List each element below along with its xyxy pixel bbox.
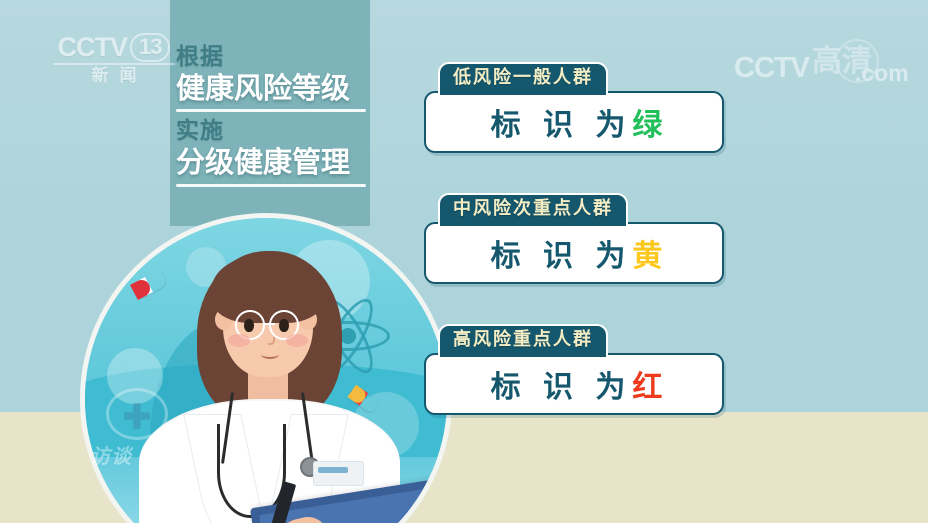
cctv-logo-row: CCTV 13 [46, 33, 182, 62]
cctv-logo-text: CCTV [58, 34, 128, 61]
cctv-logo-underline [53, 63, 175, 65]
doctor-blush-right [286, 334, 308, 347]
risk-card-body: 标 识 为绿 [424, 91, 724, 153]
headline-line-2: 健康风险等级 [176, 71, 372, 109]
headline-rule-2 [176, 184, 366, 187]
doctor-illustration-scene [85, 218, 447, 523]
doctor-blush-left [228, 334, 250, 347]
risk-card-tab-label: 高风险重点人群 [453, 329, 593, 349]
glasses-bridge [264, 323, 275, 326]
headline-line-1: 根据 [176, 42, 372, 71]
risk-card-body-text: 标 识 为黄 [484, 231, 665, 275]
headline-block: 根据 健康风险等级 实施 分级健康管理 [176, 42, 372, 191]
risk-card-prefix: 标 识 为 [491, 109, 633, 142]
doctor-id-badge [313, 461, 364, 486]
risk-card-tab-label: 低风险一般人群 [453, 67, 593, 87]
doctor-eye-left [244, 319, 253, 331]
risk-card-color-word: 红 [632, 371, 664, 404]
risk-card-high: 高风险重点人群 标 识 为红 [424, 324, 724, 415]
broadcast-frame: CCTV 13 新闻 CCTV 高清 .com 根据 健康风险等级 实施 分级健… [0, 0, 928, 523]
doctor-illustration [80, 213, 452, 523]
risk-card-tab: 中风险次重点人群 [438, 193, 628, 228]
watermark-domain-suffix: .com [855, 60, 909, 87]
doctor-hair-front [212, 254, 324, 323]
headline-line-4: 分级健康管理 [176, 145, 372, 183]
risk-card-tab: 低风险一般人群 [438, 62, 608, 97]
headline-rule-1 [176, 109, 366, 112]
risk-card-color-word: 黄 [632, 240, 664, 273]
watermark-brand: CCTV [734, 52, 809, 85]
risk-card-body: 标 识 为黄 [424, 222, 724, 284]
risk-card-body-text: 标 识 为红 [484, 362, 665, 406]
cctv13-logo: CCTV 13 新闻 [46, 33, 182, 95]
risk-card-tab: 高风险重点人群 [438, 324, 608, 359]
doctor-eye-right [279, 319, 288, 331]
risk-card-medium: 中风险次重点人群 标 识 为黄 [424, 193, 724, 284]
risk-card-low: 低风险一般人群 标 识 为绿 [424, 62, 724, 153]
risk-card-body-text: 标 识 为绿 [484, 100, 665, 144]
risk-card-prefix: 标 识 为 [491, 371, 633, 404]
cctv-logo-number: 13 [130, 33, 170, 62]
risk-card-tab-label: 中风险次重点人群 [453, 198, 613, 218]
doctor-figure [85, 218, 447, 523]
cctv-logo-subtitle: 新闻 [46, 67, 182, 86]
headline-line-3: 实施 [176, 116, 372, 145]
cctv-com-watermark: CCTV 高清 .com [734, 40, 914, 92]
risk-card-color-word: 绿 [632, 109, 664, 142]
risk-card-prefix: 标 识 为 [491, 240, 633, 273]
risk-card-body: 标 识 为红 [424, 353, 724, 415]
risk-level-card-list: 低风险一般人群 标 识 为绿 中风险次重点人群 标 识 为黄 高风险重点人群 标… [424, 62, 724, 415]
doctor-mouth [261, 350, 279, 359]
